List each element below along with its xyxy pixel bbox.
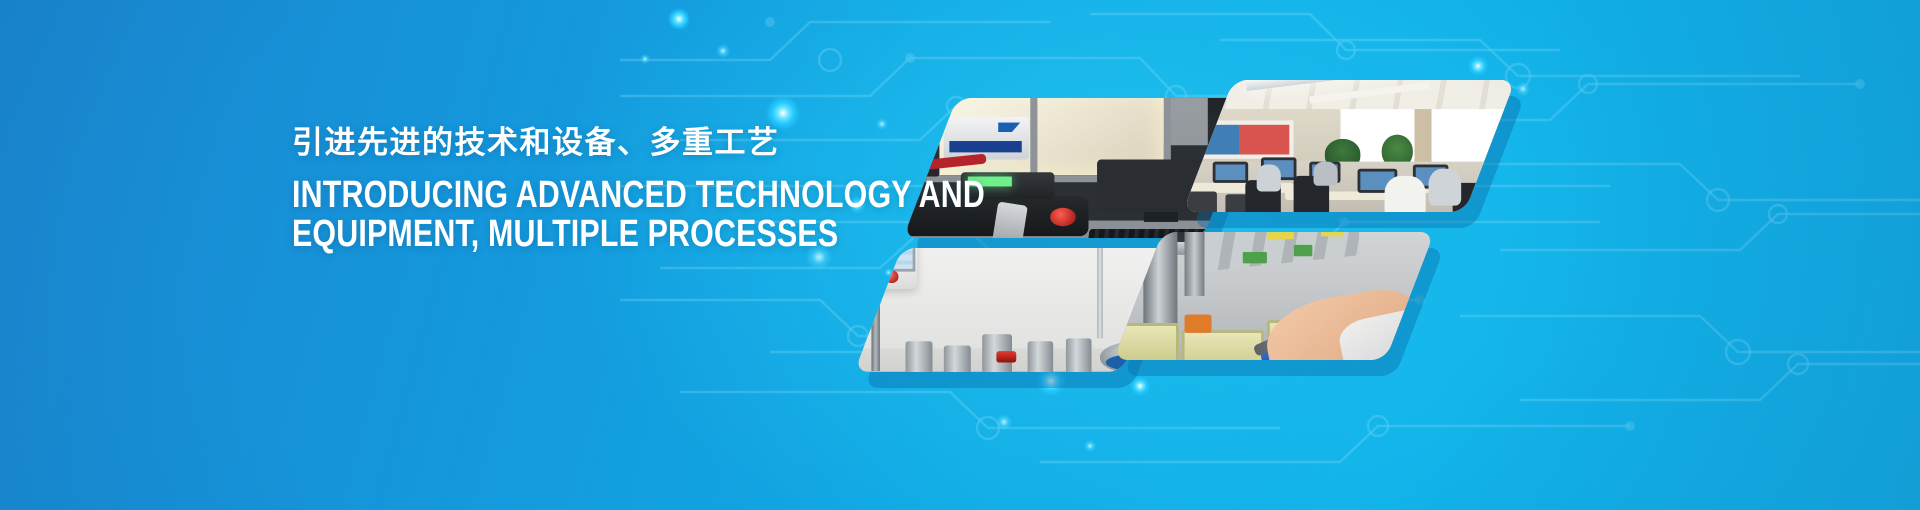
headline-english-line-1: INTRODUCING ADVANCED TECHNOLOGY AND [292,176,820,215]
promotional-banner: 引进先进的技术和设备、多重工艺 INTRODUCING ADVANCED TEC… [0,0,1920,510]
headline-english: INTRODUCING ADVANCED TECHNOLOGY AND EQUI… [292,176,820,254]
photo-engineering-office-workstations[interactable] [1183,80,1516,212]
photo-image-tray-loading [1113,232,1434,360]
photo-collage [0,0,1920,510]
headline-chinese: 引进先进的技术和设备、多重工艺 [292,126,952,162]
banner-copy: 引进先进的技术和设备、多重工艺 INTRODUCING ADVANCED TEC… [292,126,952,254]
photo-image-office [1183,80,1516,212]
photo-operator-loading-pcb-trays[interactable] [1113,232,1434,360]
headline-english-line-2: EQUIPMENT, MULTIPLE PROCESSES [292,215,820,254]
